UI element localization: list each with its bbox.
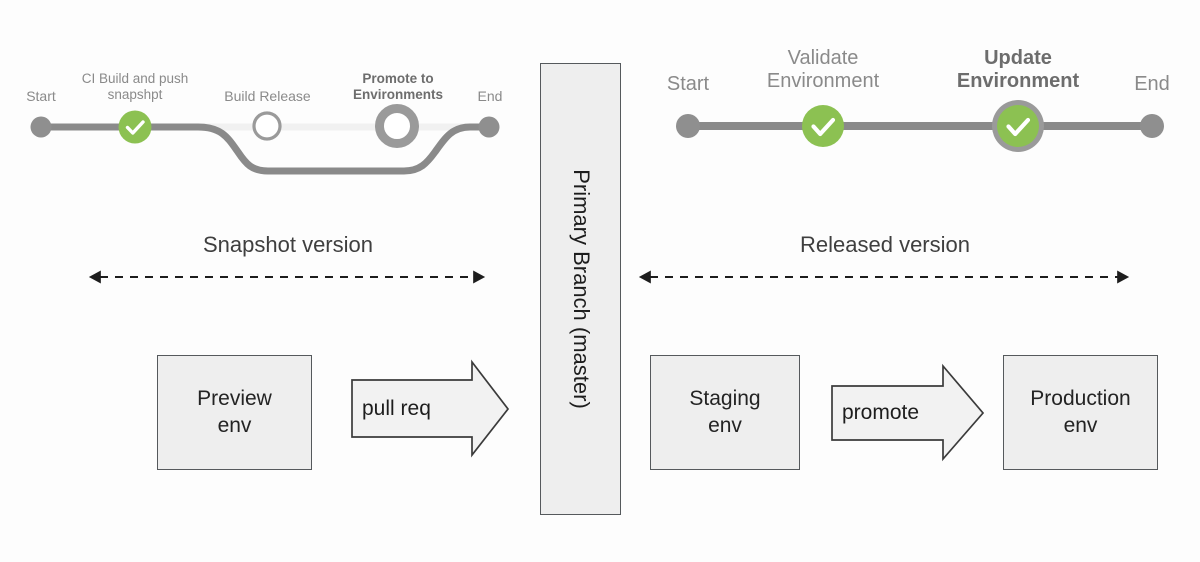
left-node-ci-build-circle[interactable] <box>119 111 152 144</box>
released-version-caption: Released version <box>650 232 1120 258</box>
right-node-end-dot[interactable] <box>1140 114 1164 138</box>
left-node-start-dot[interactable] <box>31 117 52 138</box>
pull-req-arrow[interactable]: pull req <box>352 380 472 437</box>
primary-branch-bar[interactable]: Primary Branch (master) <box>540 63 621 515</box>
left-node-build-release-circle[interactable] <box>254 113 280 139</box>
primary-branch-bar-label: Primary Branch (master) <box>568 169 594 409</box>
staging-env-box[interactable]: Staging env <box>650 355 800 470</box>
pull-req-arrow-label: pull req <box>352 380 472 437</box>
right-node-start-dot[interactable] <box>676 114 700 138</box>
left-pipeline-bypass-curve <box>136 127 489 171</box>
right-node-validate-circle[interactable] <box>802 105 844 147</box>
preview-env-box[interactable]: Preview env <box>157 355 312 470</box>
promote-arrow[interactable]: promote <box>832 386 943 440</box>
right-node-update-circle[interactable] <box>997 105 1039 147</box>
diagram-canvas: Start CI Build and push snapshpt Build R… <box>0 0 1200 562</box>
left-node-end-dot[interactable] <box>479 117 500 138</box>
production-env-box[interactable]: Production env <box>1003 355 1158 470</box>
promote-arrow-label: promote <box>832 386 943 440</box>
snapshot-version-caption: Snapshot version <box>100 232 476 258</box>
left-node-promote-ring[interactable] <box>380 109 415 144</box>
